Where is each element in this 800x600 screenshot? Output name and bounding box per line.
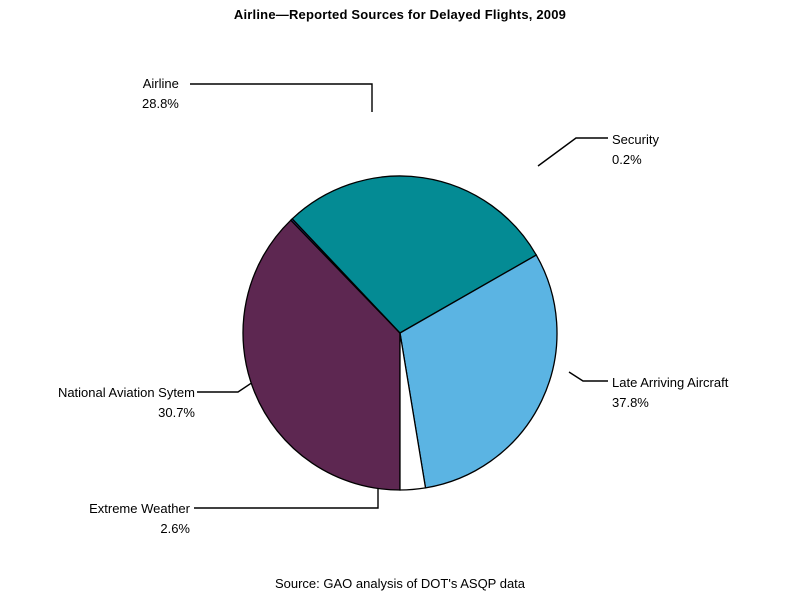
- slice-label-national-aviation-sytem-name: National Aviation Sytem: [30, 383, 195, 403]
- slice-label-security-name: Security: [612, 130, 659, 150]
- slice-label-national-aviation-sytem-value: 30.7%: [30, 403, 195, 423]
- leader-line-extreme-weather: [194, 485, 378, 508]
- slice-label-extreme-weather-value: 2.6%: [66, 519, 190, 539]
- leader-line-security: [538, 138, 608, 166]
- chart-source-note: Source: GAO analysis of DOT's ASQP data: [0, 576, 800, 591]
- pie-chart-figure: Airline—Reported Sources for Delayed Fli…: [0, 0, 800, 600]
- slice-label-security-value: 0.2%: [612, 150, 659, 170]
- slice-label-late-arriving-aircraft: Late Arriving Aircraft 37.8%: [612, 373, 728, 413]
- slice-label-late-arriving-aircraft-value: 37.8%: [612, 393, 728, 413]
- slice-label-airline-name: Airline: [142, 74, 179, 94]
- slice-label-airline-value: 28.8%: [142, 94, 179, 114]
- leader-line-airline: [190, 84, 372, 112]
- slice-label-late-arriving-aircraft-name: Late Arriving Aircraft: [612, 373, 728, 393]
- leader-line-late-arriving: [569, 372, 608, 381]
- slice-label-extreme-weather-name: Extreme Weather: [66, 499, 190, 519]
- slice-label-extreme-weather: Extreme Weather 2.6%: [66, 499, 190, 539]
- pie-slices: [243, 176, 557, 490]
- slice-label-security: Security 0.2%: [612, 130, 659, 170]
- slice-label-national-aviation-sytem: National Aviation Sytem 30.7%: [30, 383, 195, 423]
- slice-label-airline: Airline 28.8%: [142, 74, 179, 114]
